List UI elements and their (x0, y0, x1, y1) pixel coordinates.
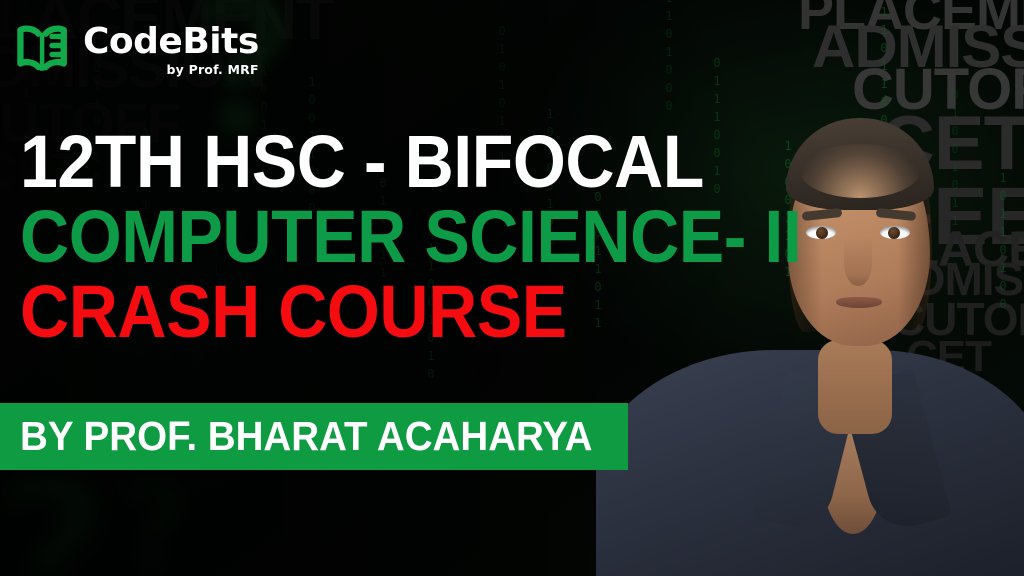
presenter-name: BY PROF. BHARAT ACAHARYA (20, 413, 592, 460)
headline-block: 12TH HSC - BIFOCAL COMPUTER SCIENCE- II … (20, 128, 760, 346)
presenter-forehead-highlight (800, 144, 920, 198)
brand-tagline: by Prof. MRF (83, 64, 259, 77)
presenter-banner: BY PROF. BHARAT ACAHARYA (0, 403, 628, 470)
question-mark-icon: ? (0, 452, 112, 576)
headline-line-1: 12TH HSC - BIFOCAL (20, 128, 701, 197)
thumbnail-canvas: PLACEMENT ADMISSION CUTOFF CET PLACEMENT… (0, 0, 1024, 576)
headline-line-2: COMPUTER SCIENCE- II (20, 203, 701, 272)
presenter-iris-right (888, 227, 900, 239)
brand-name: CodeBits (83, 24, 259, 60)
codebits-book-logo-icon (14, 22, 72, 78)
presenter-iris-left (816, 227, 828, 239)
presenter-mouth (836, 297, 882, 308)
presenter-neck (818, 340, 892, 434)
brand-logo: CodeBits by Prof. MRF (14, 22, 259, 78)
headline-line-3: CRASH COURSE (20, 278, 701, 347)
presenter-nose (844, 238, 872, 286)
question-mark-icon: ? (120, 470, 190, 576)
brand-logo-text: CodeBits by Prof. MRF (83, 24, 259, 77)
